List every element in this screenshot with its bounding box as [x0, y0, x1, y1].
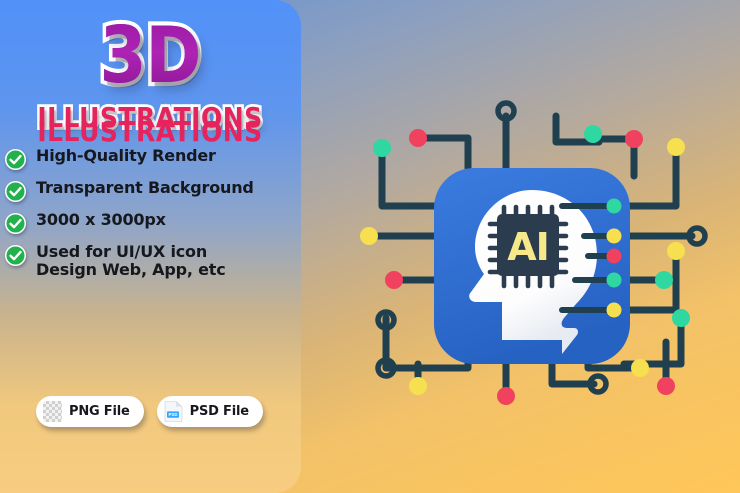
feature-item: Transparent Background — [4, 179, 294, 203]
feature-item: High-Quality Render — [4, 147, 294, 171]
node-green-right-mid — [655, 271, 673, 289]
node-red-top-left — [409, 129, 427, 147]
node-hollow-top-center — [498, 103, 514, 119]
node-green-card-1 — [607, 199, 622, 214]
node-green-card-2 — [607, 273, 622, 288]
node-hollow-right-mid — [689, 228, 705, 244]
psd-document-icon: PSD — [164, 401, 183, 422]
check-circle-icon — [4, 180, 27, 203]
check-circle-icon — [4, 148, 27, 171]
ai-chip-icon: AI — [490, 207, 566, 286]
node-red-card-1 — [607, 249, 622, 264]
file-badge-group: PNG File PSD PSD File — [36, 396, 263, 427]
node-green-top-left — [373, 139, 391, 157]
png-file-label: PNG File — [69, 404, 130, 419]
title-block: 3D 3D ILLUSTRATIONS ILLUSTRATIONS — [0, 24, 300, 132]
node-red-bottom-right — [657, 377, 675, 395]
node-red-bottom-center — [497, 387, 515, 405]
node-green-right-lower — [672, 309, 690, 327]
feature-item: 3000 x 3000px — [4, 211, 294, 235]
node-yellow-left-mid — [360, 227, 378, 245]
node-yellow-card-2 — [607, 303, 622, 318]
feature-list: High-Quality Render Transparent Backgrou… — [4, 147, 294, 287]
node-hollow-bottom-center — [590, 376, 606, 392]
check-circle-icon — [4, 212, 27, 235]
psd-tag-text: PSD — [168, 412, 177, 417]
promo-banner: 3D 3D ILLUSTRATIONS ILLUSTRATIONS High-Q… — [0, 0, 740, 493]
node-red-left-mid — [385, 271, 403, 289]
node-yellow-top-right — [667, 138, 685, 156]
psd-file-label: PSD File — [190, 404, 249, 419]
chip-label-text: AI — [507, 225, 549, 269]
node-green-top-right — [584, 125, 602, 143]
feature-label-multiline: Used for UI/UX icon Design Web, App, etc — [36, 243, 226, 279]
page-title-sub: ILLUSTRATIONS — [0, 101, 300, 133]
feature-label-line2: Design Web, App, etc — [36, 260, 226, 279]
ai-brain-circuit-illustration: AI — [356, 96, 716, 408]
left-promo-panel: 3D 3D ILLUSTRATIONS ILLUSTRATIONS High-Q… — [0, 0, 301, 493]
check-circle-icon — [4, 244, 27, 267]
feature-label: High-Quality Render — [36, 147, 216, 165]
node-red-top-right — [625, 130, 643, 148]
feature-label: 3000 x 3000px — [36, 211, 166, 229]
psd-file-badge[interactable]: PSD PSD File — [157, 396, 263, 427]
png-file-badge[interactable]: PNG File — [36, 396, 144, 427]
feature-label: Transparent Background — [36, 179, 254, 197]
illustration-svg: AI — [356, 96, 716, 408]
feature-item: Used for UI/UX icon Design Web, App, etc — [4, 243, 294, 279]
feature-label-line1: Used for UI/UX icon — [36, 242, 207, 261]
node-yellow-bottom-right — [631, 359, 649, 377]
trace-right-low-1 — [624, 321, 681, 364]
node-yellow-bottom-left — [409, 377, 427, 395]
node-yellow-right-low — [667, 242, 685, 260]
transparency-checker-icon — [43, 401, 62, 422]
page-title-main: 3D — [0, 18, 301, 94]
node-yellow-card-1 — [607, 229, 622, 244]
